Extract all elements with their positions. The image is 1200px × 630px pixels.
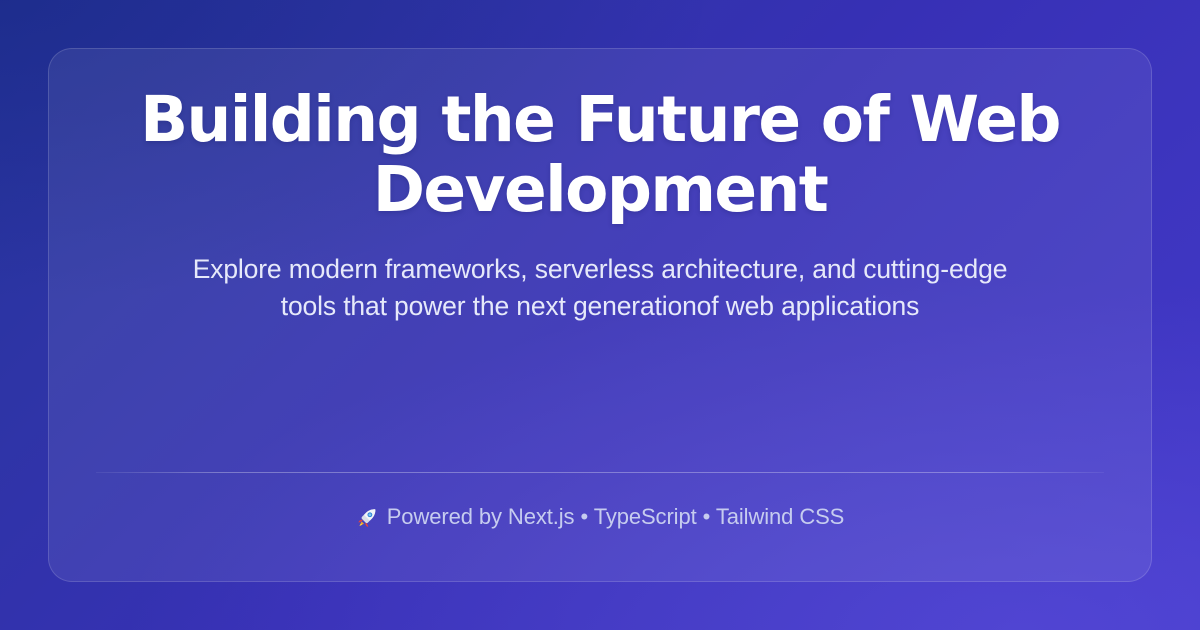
page-subtitle: Explore modern frameworks, serverless ar…: [167, 251, 1033, 325]
hero-card: Building the Future of Web Development E…: [48, 48, 1152, 582]
footer-divider: [96, 472, 1104, 473]
og-image-canvas: Building the Future of Web Development E…: [0, 0, 1200, 630]
footer-credits: Powered by Next.js • TypeScript • Tailwi…: [356, 504, 845, 530]
page-title: Building the Future of Web Development: [97, 85, 1103, 225]
footer-text: Powered by Next.js • TypeScript • Tailwi…: [387, 504, 845, 530]
rocket-icon: [356, 507, 378, 529]
